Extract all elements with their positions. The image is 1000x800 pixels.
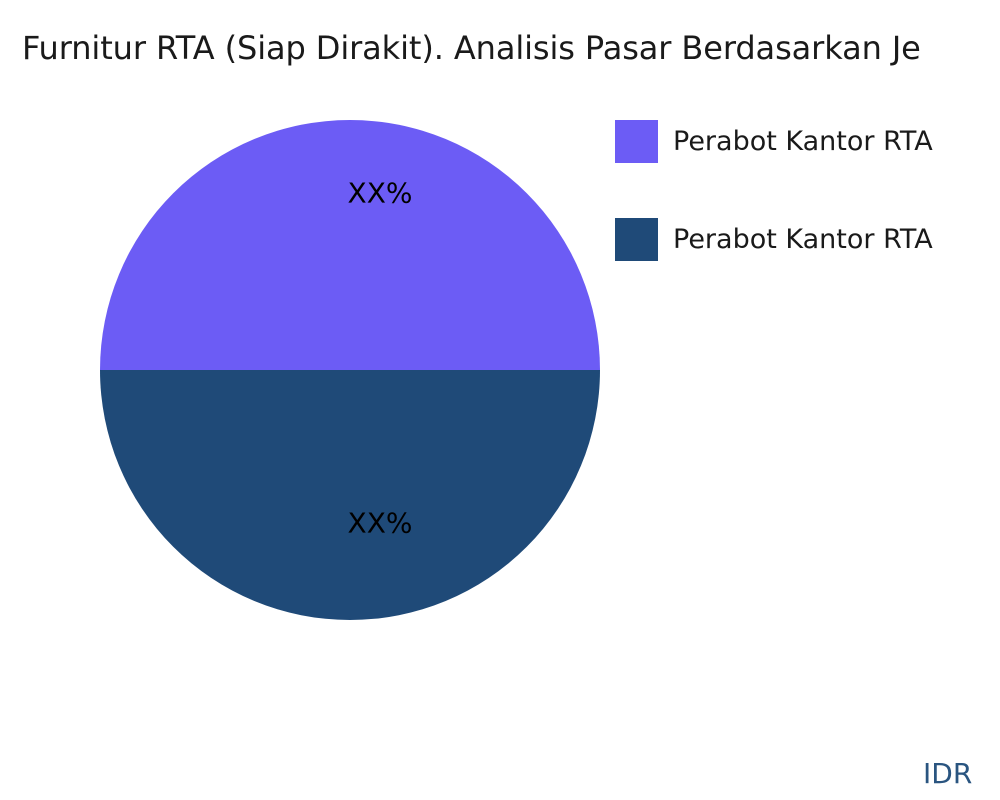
currency-note: IDR <box>923 757 972 790</box>
legend-item-label-2: Perabot Kantor RTA <box>673 218 933 261</box>
legend-swatch-purple-icon <box>615 120 658 163</box>
pie-slice-label-2: XX% <box>348 177 413 210</box>
legend-item-1[interactable]: Perabot Kantor RTA <box>615 120 995 163</box>
page-title: Furnitur RTA (Siap Dirakit). Analisis Pa… <box>22 26 1000 70</box>
pie-slice-label-1: XX% <box>348 507 413 540</box>
pie-chart-figure: Furnitur RTA (Siap Dirakit). Analisis Pa… <box>0 0 1000 800</box>
pie-slice-perabot-kantor-rta-2[interactable] <box>100 370 600 620</box>
pie-chart-area: XX% XX% <box>100 120 600 620</box>
chart-legend: Perabot Kantor RTA Perabot Kantor RTA <box>615 120 995 316</box>
legend-item-2[interactable]: Perabot Kantor RTA <box>615 218 995 261</box>
legend-item-label-1: Perabot Kantor RTA <box>673 120 933 163</box>
pie-slice-perabot-kantor-rta-1[interactable] <box>100 120 600 370</box>
legend-swatch-darkblue-icon <box>615 218 658 261</box>
